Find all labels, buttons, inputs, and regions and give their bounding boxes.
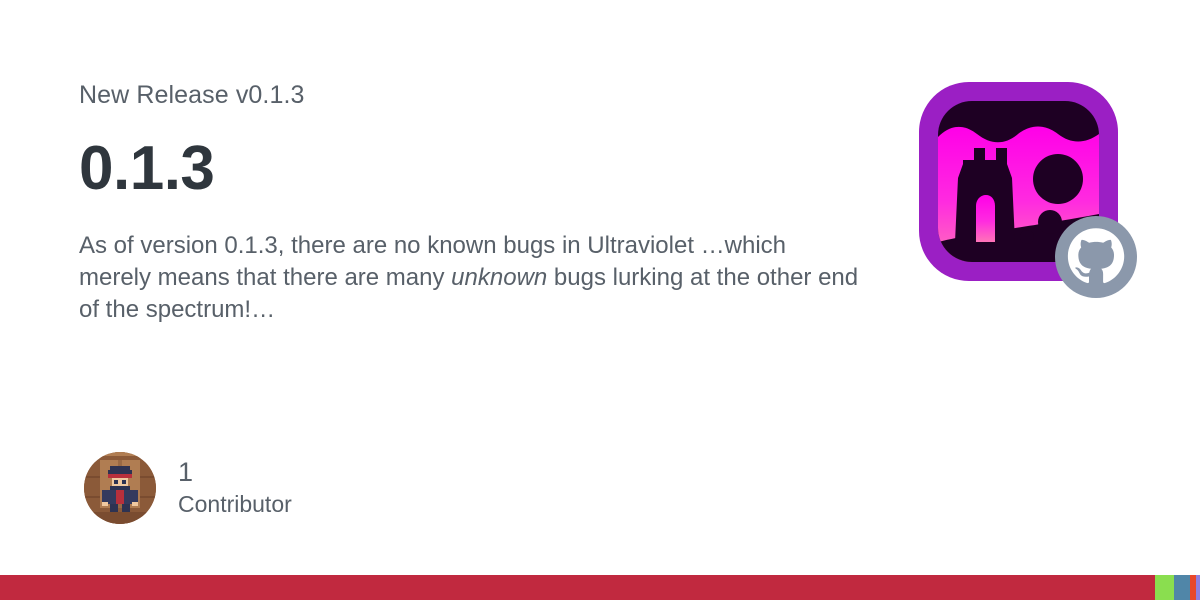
github-social-preview-card: New Release v0.1.3 0.1.3 As of version 0…: [0, 0, 1200, 600]
contributor-label: Contributor: [178, 489, 292, 519]
release-eyebrow: New Release v0.1.3: [79, 78, 869, 112]
language-segment-1: [0, 575, 1155, 600]
description-emphasis: unknown: [451, 264, 547, 291]
release-content: New Release v0.1.3 0.1.3 As of version 0…: [79, 78, 869, 326]
pixel-art-ninja-avatar-icon: [84, 452, 156, 524]
release-description: As of version 0.1.3, there are no known …: [79, 230, 859, 326]
contributors-block: 1 Contributor: [84, 452, 292, 524]
page-title: 0.1.3: [79, 132, 869, 206]
github-octocat-icon: [1055, 216, 1137, 298]
language-segment-2: [1155, 575, 1174, 600]
language-segment-5: [1196, 575, 1200, 600]
github-badge: [1055, 216, 1137, 298]
contributor-text: 1 Contributor: [178, 457, 292, 519]
contributor-count: 1: [178, 457, 292, 487]
avatar: [84, 452, 156, 524]
language-bar: [0, 575, 1200, 600]
language-segment-3: [1174, 575, 1190, 600]
